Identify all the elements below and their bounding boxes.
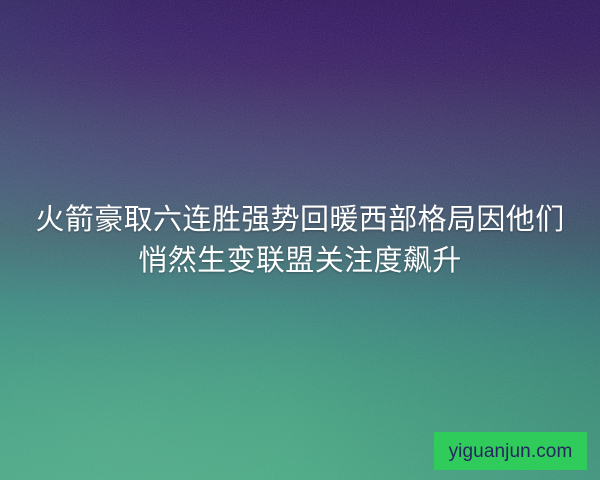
headline-text: 火箭豪取六连胜强势回暖西部格局因他们 悄然生变联盟关注度飙升: [0, 200, 600, 282]
watermark-label: yiguanjun.com: [449, 442, 573, 461]
image-canvas: 火箭豪取六连胜强势回暖西部格局因他们 悄然生变联盟关注度飙升 yiguanjun…: [0, 0, 600, 480]
watermark-badge[interactable]: yiguanjun.com: [434, 432, 587, 470]
